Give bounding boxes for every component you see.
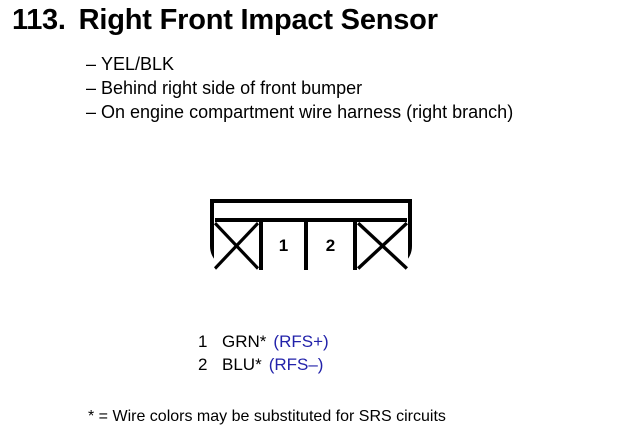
- connector-blank-cavity-left: [214, 222, 259, 270]
- list-item-label: Behind right side of front bumper: [101, 76, 362, 100]
- pin-wire-color: GRN*: [222, 330, 266, 353]
- title-text: Right Front Impact Sensor: [79, 4, 438, 37]
- item-number: 113.: [12, 4, 66, 37]
- cavity-number-label: 2: [326, 236, 335, 256]
- pin-legend: 1 GRN* (RFS+) 2 BLU* (RFS–): [198, 330, 329, 376]
- connector-top-bar: [215, 203, 407, 222]
- dash-icon: –: [86, 52, 101, 76]
- page-title: 113. Right Front Impact Sensor: [12, 4, 438, 37]
- connector-diagram: 1 2: [210, 199, 412, 268]
- cross-out-icon: [214, 222, 259, 270]
- pin-number: 2: [198, 353, 214, 376]
- cavity-number-label: 1: [279, 236, 288, 256]
- pin-number: 1: [198, 330, 214, 353]
- connector-cavity-1: 1: [259, 222, 308, 270]
- detail-list: – YEL/BLK – Behind right side of front b…: [86, 52, 513, 124]
- connector-cavity-row: 1 2: [214, 222, 408, 270]
- cross-out-icon: [357, 222, 408, 270]
- list-item-label: YEL/BLK: [101, 52, 174, 76]
- list-item: – YEL/BLK: [86, 52, 513, 76]
- pin-legend-row: 1 GRN* (RFS+): [198, 330, 329, 353]
- pin-wire-color: BLU*: [222, 353, 262, 376]
- pin-circuit-name: (RFS+): [273, 330, 328, 353]
- list-item: – Behind right side of front bumper: [86, 76, 513, 100]
- list-item-label: On engine compartment wire harness (righ…: [101, 100, 513, 124]
- dash-icon: –: [86, 100, 101, 124]
- footnote: * = Wire colors may be substituted for S…: [88, 408, 446, 426]
- list-item: – On engine compartment wire harness (ri…: [86, 100, 513, 124]
- pin-circuit-name: (RFS–): [269, 353, 324, 376]
- pin-legend-row: 2 BLU* (RFS–): [198, 353, 329, 376]
- connector-blank-cavity-right: [357, 222, 408, 270]
- dash-icon: –: [86, 76, 101, 100]
- connector-cavity-2: 2: [308, 222, 357, 270]
